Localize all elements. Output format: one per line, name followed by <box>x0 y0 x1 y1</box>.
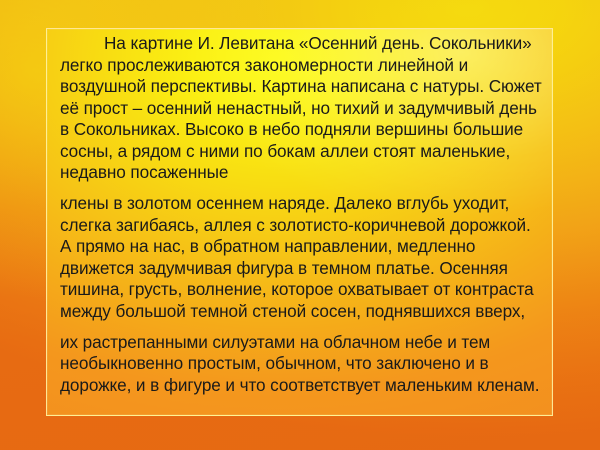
paragraph-1: На картине И. Левитана «Осенний день. Со… <box>60 33 542 184</box>
paragraph-2: клены в золотом осеннем наряде. Далеко в… <box>60 193 542 322</box>
content-panel: На картине И. Левитана «Осенний день. Со… <box>46 28 553 416</box>
slide-body-text: На картине И. Левитана «Осенний день. Со… <box>60 33 542 396</box>
presentation-slide: На картине И. Левитана «Осенний день. Со… <box>0 0 600 450</box>
paragraph-3: их растрепанными силуэтами на облачном н… <box>60 332 542 397</box>
